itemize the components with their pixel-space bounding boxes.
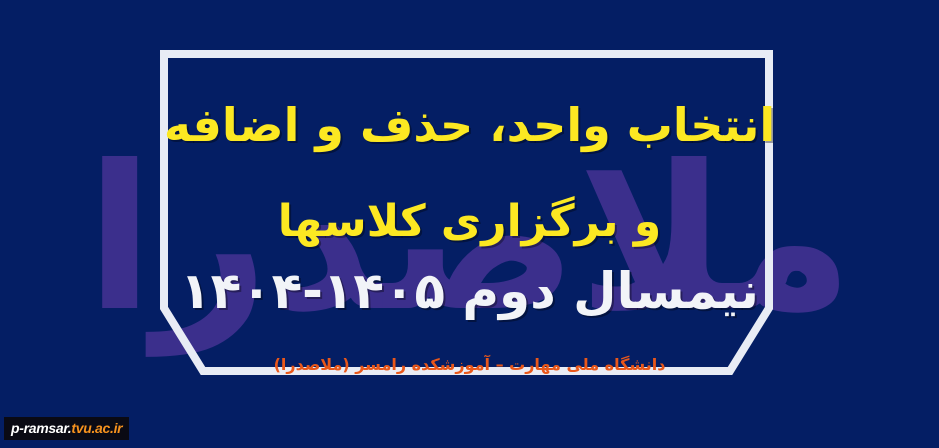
headline-line-3-semester: نیمسال دوم ۱۴۰۵-۱۴۰۴ — [0, 262, 939, 320]
url-suffix: tvu.ac.ir — [71, 420, 122, 436]
institution-subtitle: دانشگاه ملی مهارت – آموزشکده رامسر (ملاص… — [0, 355, 939, 374]
website-url-chip[interactable]: p-ramsar.tvu.ac.ir — [4, 417, 129, 440]
url-prefix: p-ramsar. — [11, 420, 71, 436]
announcement-banner: ملاصدرا انتخاب واحد، حذف و اضافه و برگزا… — [0, 0, 939, 448]
headline-line-1: انتخاب واحد، حذف و اضافه — [0, 98, 939, 152]
headline-line-2: و برگزاری کلاسها — [0, 196, 939, 247]
banner-content: انتخاب واحد، حذف و اضافه و برگزاری کلاسه… — [0, 0, 939, 448]
